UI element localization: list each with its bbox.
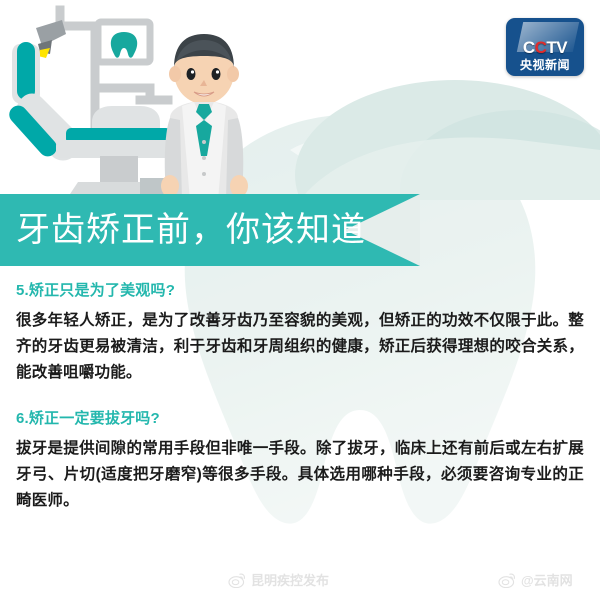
cctv-letters-tv: TV <box>546 38 567 57</box>
qa-heading: 6.矫正一定要拔牙吗? <box>16 408 584 430</box>
qa-section-6: 6.矫正一定要拔牙吗? 拔牙是提供间隙的常用手段但非唯一手段。除了拔牙，临床上还… <box>0 408 600 514</box>
dental-light-icon <box>36 20 66 58</box>
cctv-wordmark: CCTV <box>506 38 584 58</box>
watermark-yunnan: @云南网 <box>498 570 573 589</box>
qa-body: 拔牙是提供间隙的常用手段但非唯一手段。除了拔牙，临床上还有前后或左右扩展牙弓、片… <box>16 436 584 514</box>
watermark-label: @云南网 <box>521 570 573 589</box>
watermark-label: 昆明疾控发布 <box>251 570 329 589</box>
poster-root: CCTV 央视新闻 牙齿矫正前，你该知道 5.矫正只是为了美观吗? 很多年轻人矫… <box>0 0 600 600</box>
watermark-kunming: 昆明疾控发布 <box>228 570 329 589</box>
article-content: 5.矫正只是为了美观吗? 很多年轻人矫正，是为了改善牙齿乃至容貌的美观，但矫正的… <box>0 280 600 514</box>
cctv-letter-c1: C <box>523 38 535 57</box>
tooth-monitor-icon <box>98 22 150 62</box>
weibo-icon <box>228 572 246 588</box>
qa-body: 很多年轻人矫正，是为了改善牙齿乃至容貌的美观，但矫正的功效不仅限于此。整齐的牙齿… <box>16 308 584 386</box>
qa-section-5: 5.矫正只是为了美观吗? 很多年轻人矫正，是为了改善牙齿乃至容貌的美观，但矫正的… <box>0 280 600 386</box>
cctv-letter-c2: C <box>535 38 547 57</box>
dentist-character <box>161 34 248 200</box>
cctv-sub-label: 央视新闻 <box>506 56 584 73</box>
page-title: 牙齿矫正前，你该知道 <box>16 198 366 262</box>
cctv-news-logo: CCTV 央视新闻 <box>506 18 584 76</box>
qa-heading: 5.矫正只是为了美观吗? <box>16 280 584 302</box>
weibo-icon <box>498 572 516 588</box>
